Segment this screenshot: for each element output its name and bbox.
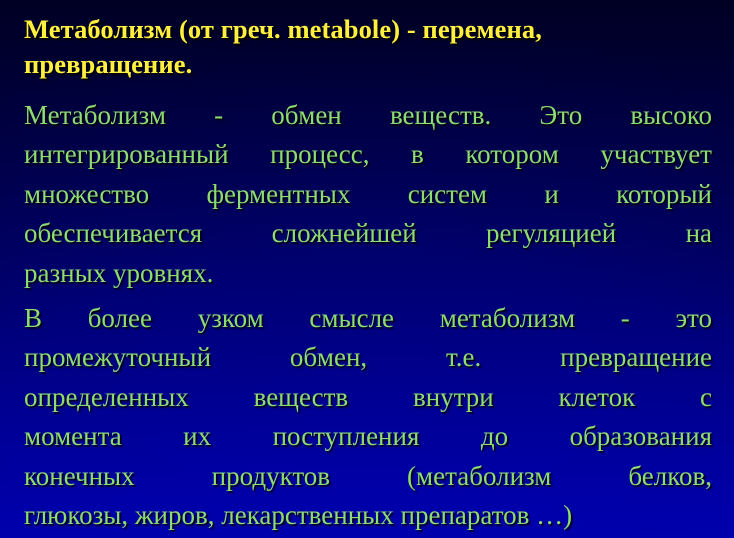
paragraph-2-line-2: промежуточный обмен, т.е. превращение xyxy=(24,338,712,377)
slide-title-line-1: Метаболизм (от греч. metabole) - перемен… xyxy=(24,12,724,47)
paragraph-1-line-3: множество ферментных систем и который xyxy=(24,175,712,214)
body-paragraph-2: В более узком смысле метаболизм - это пр… xyxy=(24,299,712,535)
body-paragraph-1: Метаболизм - обмен веществ. Это высоко и… xyxy=(24,96,712,293)
slide-title-line-2: превращение. xyxy=(24,47,724,82)
paragraph-2-line-5: конечных продуктов (метаболизм белков, xyxy=(24,457,712,496)
paragraph-1-line-4: обеспечивается сложнейшей регуляцией на xyxy=(24,214,712,253)
paragraph-1-line-1: Метаболизм - обмен веществ. Это высоко xyxy=(24,96,712,135)
paragraph-2-line-4: момента их поступления до образования xyxy=(24,417,712,456)
paragraph-2-line-1: В более узком смысле метаболизм - это xyxy=(24,299,712,338)
slide-body: Метаболизм - обмен веществ. Это высоко и… xyxy=(24,96,712,535)
paragraph-1-line-5: разных уровнях. xyxy=(24,254,712,293)
presentation-slide: Метаболизм (от греч. metabole) - перемен… xyxy=(0,0,734,538)
slide-title: Метаболизм (от греч. metabole) - перемен… xyxy=(24,12,724,82)
paragraph-1-line-2: интегрированный процесс, в котором участ… xyxy=(24,135,712,174)
paragraph-2-line-3: определенных веществ внутри клеток с xyxy=(24,378,712,417)
paragraph-2-line-6: глюкозы, жиров, лекарственных препаратов… xyxy=(24,496,712,535)
